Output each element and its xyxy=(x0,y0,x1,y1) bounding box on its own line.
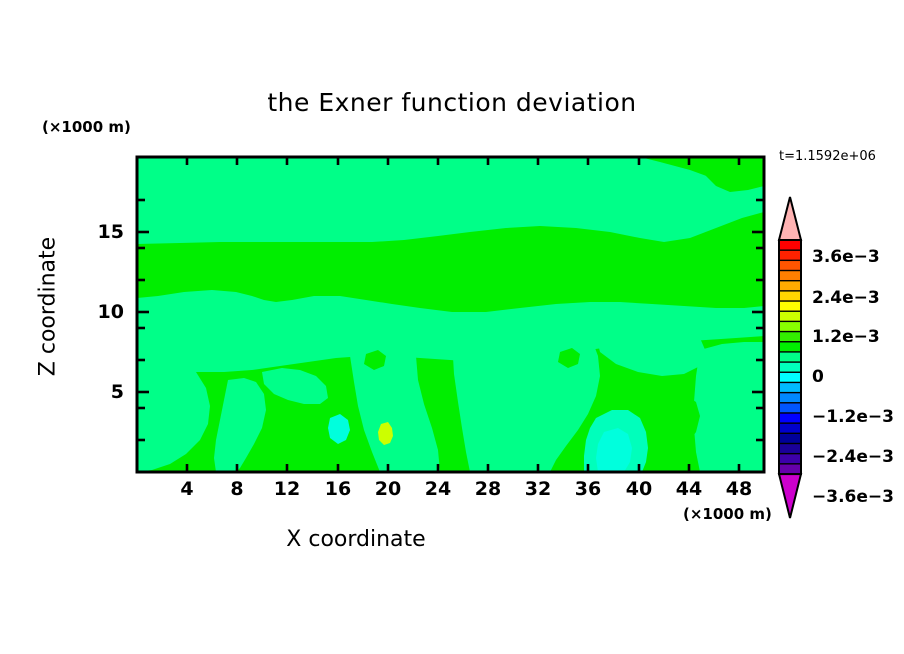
colorbar-label: 1.2e−3 xyxy=(812,327,880,347)
xtick-label: 36 xyxy=(568,478,608,500)
colorbar-label: −2.4e−3 xyxy=(812,447,894,467)
colorbar-band xyxy=(779,372,801,383)
colorbar-label: 2.4e−3 xyxy=(812,288,880,308)
colorbar-band xyxy=(779,433,801,444)
colorbar-band xyxy=(779,393,801,404)
colorbar-band xyxy=(779,413,801,424)
ytick-label: 10 xyxy=(84,301,124,323)
xtick-label: 20 xyxy=(368,478,408,500)
colorbar-label: −3.6e−3 xyxy=(812,487,894,507)
colorbar-band xyxy=(779,260,801,271)
xtick-label: 48 xyxy=(719,478,759,500)
colorbar-label: 3.6e−3 xyxy=(812,247,880,267)
colorbar-band xyxy=(779,382,801,393)
ytick-label: 5 xyxy=(84,381,124,403)
xtick-label: 40 xyxy=(619,478,659,500)
colorbar-band xyxy=(779,332,801,343)
contour-field xyxy=(137,157,764,472)
xtick-label: 8 xyxy=(217,478,257,500)
ytick-label: 15 xyxy=(84,221,124,243)
contour-band-springgreen-top xyxy=(137,157,764,244)
colorbar-band xyxy=(779,352,801,363)
colorbar-band xyxy=(779,250,801,261)
xtick-label: 16 xyxy=(318,478,358,500)
xtick-label: 24 xyxy=(418,478,458,500)
colorbar-label: −1.2e−3 xyxy=(812,407,894,427)
colorbar-band xyxy=(779,291,801,302)
colorbar-band xyxy=(779,281,801,292)
colorbar-bands xyxy=(779,240,801,474)
colorbar-band xyxy=(779,311,801,322)
colorbar-band xyxy=(779,271,801,282)
colorbar-band xyxy=(779,240,801,251)
contour-band-springgreen-farright xyxy=(694,342,764,472)
contour-plot xyxy=(0,0,904,654)
colorbar-band xyxy=(779,362,801,373)
xtick-label: 4 xyxy=(167,478,207,500)
colorbar-band xyxy=(779,454,801,465)
colorbar-band xyxy=(779,443,801,454)
xtick-label: 28 xyxy=(468,478,508,500)
colorbar-band xyxy=(779,301,801,312)
xtick-label: 32 xyxy=(518,478,558,500)
colorbar-band xyxy=(779,403,801,414)
colorbar-under-arrow xyxy=(779,474,801,518)
xtick-label: 44 xyxy=(669,478,709,500)
figure-canvas: the Exner function deviation (×1000 m) (… xyxy=(0,0,904,654)
colorbar-band xyxy=(779,321,801,332)
colorbar-over-arrow xyxy=(779,197,801,240)
colorbar-band xyxy=(779,342,801,353)
colorbar-band xyxy=(779,423,801,434)
colorbar-band xyxy=(779,464,801,475)
colorbar-label: 0 xyxy=(812,367,824,387)
xtick-label: 12 xyxy=(267,478,307,500)
colorbar[interactable] xyxy=(770,195,830,535)
